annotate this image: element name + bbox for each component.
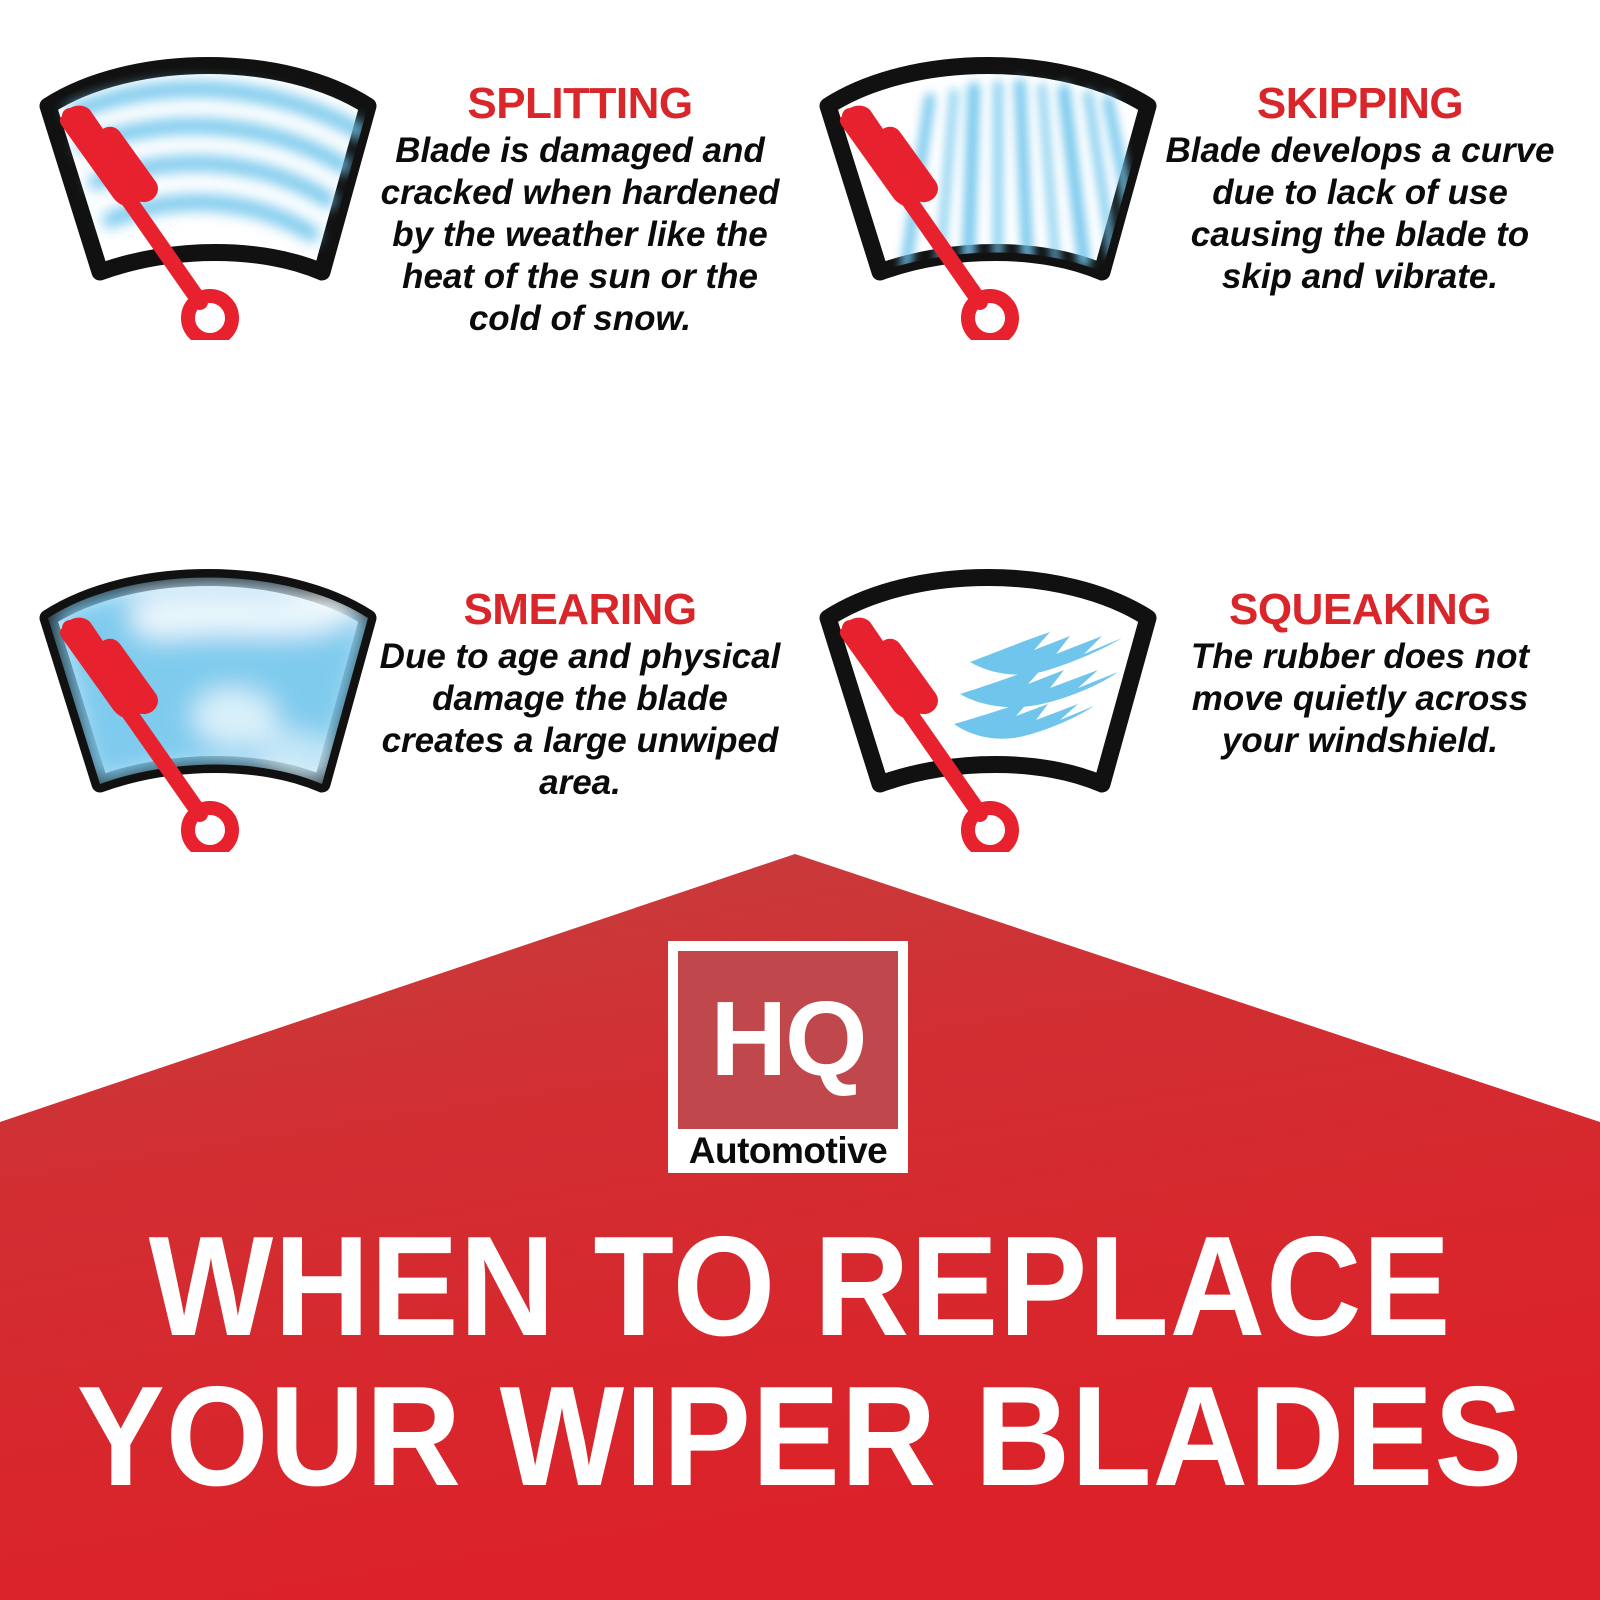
panel-text-skipping: SKIPPING Blade develops a curve due to l… bbox=[1158, 82, 1562, 298]
headline: WHEN TO REPLACE YOUR WIPER BLADES bbox=[0, 1212, 1600, 1512]
panel-title: SKIPPING bbox=[1158, 82, 1562, 126]
panel-title: SQUEAKING bbox=[1158, 588, 1562, 632]
hq-automotive-logo: HQ Automotive bbox=[668, 941, 908, 1173]
wiper-windshield-arcs-icon bbox=[22, 40, 394, 340]
headline-line-1: WHEN TO REPLACE bbox=[56, 1212, 1544, 1362]
headline-line-2: YOUR WIPER BLADES bbox=[56, 1362, 1544, 1512]
panel-text-smearing: SMEARING Due to age and physical damage … bbox=[378, 588, 782, 804]
wiper-windshield-zigzag-icon bbox=[802, 552, 1174, 852]
panel-description: Blade develops a curve due to lack of us… bbox=[1158, 130, 1562, 298]
wiper-windshield-streaks-icon bbox=[802, 40, 1174, 340]
logo-mark-box: HQ bbox=[678, 951, 898, 1129]
panel-title: SMEARING bbox=[378, 588, 782, 632]
panel-description: Due to age and physical damage the blade… bbox=[378, 636, 782, 804]
panel-text-splitting: SPLITTING Blade is damaged and cracked w… bbox=[378, 82, 782, 340]
panel-title: SPLITTING bbox=[378, 82, 782, 126]
logo-wordmark: Automotive bbox=[678, 1129, 898, 1173]
wiper-windshield-smear-icon bbox=[22, 552, 394, 852]
logo-mark-text: HQ bbox=[711, 992, 866, 1087]
panel-text-squeaking: SQUEAKING The rubber does not move quiet… bbox=[1158, 588, 1562, 762]
panel-description: The rubber does not move quietly across … bbox=[1158, 636, 1562, 762]
panel-description: Blade is damaged and cracked when harden… bbox=[378, 130, 782, 340]
infographic-canvas: SPLITTING Blade is damaged and cracked w… bbox=[0, 0, 1600, 1600]
